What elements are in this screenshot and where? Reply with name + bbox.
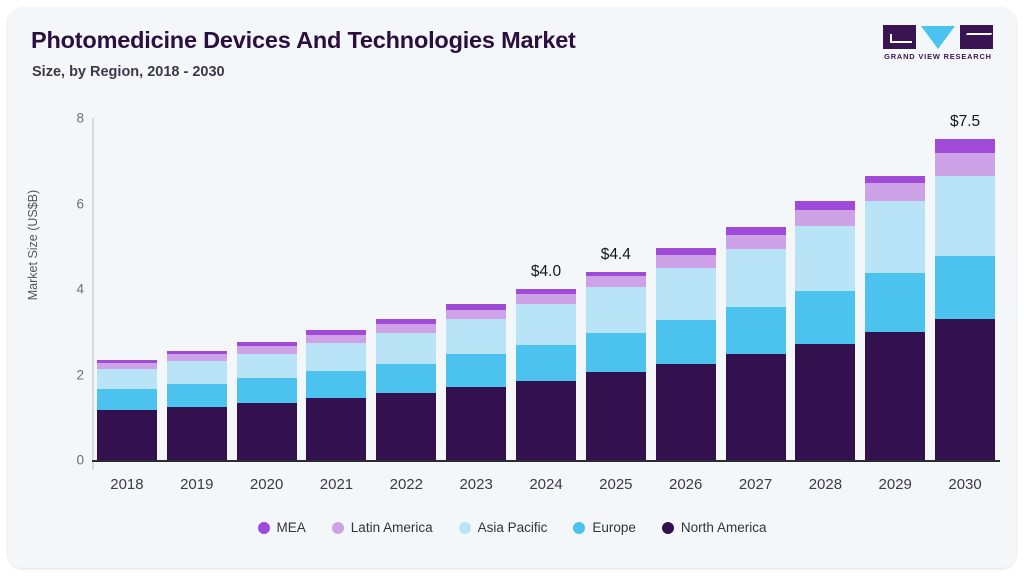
- bar-segment[interactable]: [167, 384, 227, 407]
- x-axis-tick-label: 2020: [250, 476, 283, 493]
- x-axis-tick-label: 2024: [529, 476, 562, 493]
- legend-label: Europe: [592, 520, 636, 535]
- bar-segment[interactable]: [586, 333, 646, 373]
- bar-value-label: $4.4: [601, 246, 631, 264]
- bar-segment[interactable]: [586, 276, 646, 287]
- x-axis-tick-label: 2021: [320, 476, 353, 493]
- bar-segment[interactable]: [726, 227, 786, 235]
- bar-segment[interactable]: [726, 307, 786, 354]
- bar-stack-2028[interactable]: [795, 201, 855, 460]
- bar-segment[interactable]: [586, 287, 646, 332]
- bar-segment[interactable]: [656, 255, 716, 268]
- x-axis-tick-label: 2022: [390, 476, 423, 493]
- x-axis-tick-label: 2026: [669, 476, 702, 493]
- x-axis-line: [92, 460, 1000, 462]
- bar-segment[interactable]: [795, 210, 855, 226]
- bar-segment[interactable]: [935, 256, 995, 319]
- x-axis-tick-label: 2027: [739, 476, 772, 493]
- bar-segment[interactable]: [376, 333, 436, 364]
- legend-label: Latin America: [351, 520, 433, 535]
- bar-segment[interactable]: [97, 389, 157, 410]
- bar-segment[interactable]: [446, 387, 506, 460]
- legend-label: MEA: [277, 520, 306, 535]
- bar-segment[interactable]: [446, 354, 506, 387]
- legend-item-north-america[interactable]: North America: [662, 520, 767, 535]
- plot-area: Market Size (US$B) 02468 $4.0$4.4$7.5 20…: [8, 8, 1016, 568]
- bar-stack-2020[interactable]: [237, 342, 297, 460]
- legend-color-swatch-icon: [459, 522, 471, 534]
- bar-segment[interactable]: [726, 249, 786, 307]
- bar-segment[interactable]: [656, 320, 716, 364]
- bar-value-label: $7.5: [950, 113, 980, 131]
- bar-segment[interactable]: [935, 176, 995, 256]
- bar-segment[interactable]: [167, 361, 227, 384]
- bar-segment[interactable]: [795, 201, 855, 209]
- legend-color-swatch-icon: [573, 522, 585, 534]
- bar-segment[interactable]: [516, 381, 576, 461]
- bar-stack-2026[interactable]: [656, 248, 716, 460]
- y-axis-tick-label: 6: [48, 196, 84, 211]
- bar-segment[interactable]: [865, 201, 925, 273]
- bar-segment[interactable]: [97, 369, 157, 390]
- legend-item-mea[interactable]: MEA: [258, 520, 306, 535]
- bar-stack-2018[interactable]: [97, 360, 157, 460]
- bar-segment[interactable]: [167, 354, 227, 361]
- x-axis-tick-label: 2029: [879, 476, 912, 493]
- bar-stack-2021[interactable]: [306, 330, 366, 460]
- bar-segment[interactable]: [376, 324, 436, 333]
- bar-segment[interactable]: [516, 294, 576, 305]
- legend-label: North America: [681, 520, 767, 535]
- bar-series-container: $4.0$4.4$7.5: [92, 118, 1000, 460]
- chart-card: Photomedicine Devices And Technologies M…: [8, 8, 1016, 568]
- y-axis-tick-label: 2: [48, 367, 84, 382]
- bar-segment[interactable]: [446, 319, 506, 354]
- bar-segment[interactable]: [376, 393, 436, 460]
- legend-color-swatch-icon: [332, 522, 344, 534]
- bar-segment[interactable]: [795, 226, 855, 291]
- legend-color-swatch-icon: [662, 522, 674, 534]
- bar-segment[interactable]: [446, 310, 506, 319]
- bar-segment[interactable]: [656, 364, 716, 460]
- x-axis-tick-label: 2023: [459, 476, 492, 493]
- bar-segment[interactable]: [167, 407, 227, 460]
- bar-stack-2022[interactable]: [376, 319, 436, 460]
- x-axis-tick-label: 2030: [948, 476, 981, 493]
- y-axis-tick-label: 0: [48, 453, 84, 468]
- bar-segment[interactable]: [795, 344, 855, 460]
- bar-stack-2023[interactable]: [446, 304, 506, 460]
- bar-segment[interactable]: [376, 364, 436, 393]
- bar-segment[interactable]: [935, 139, 995, 153]
- bar-segment[interactable]: [865, 176, 925, 184]
- x-axis-tick-label: 2019: [180, 476, 213, 493]
- bar-stack-2025[interactable]: [586, 272, 646, 460]
- bar-segment[interactable]: [306, 335, 366, 343]
- bar-segment[interactable]: [237, 403, 297, 460]
- bar-segment[interactable]: [726, 354, 786, 460]
- y-axis-tick-label: 8: [48, 111, 84, 126]
- screenshot-root: Photomedicine Devices And Technologies M…: [0, 0, 1024, 576]
- x-axis-tick-label: 2028: [809, 476, 842, 493]
- bar-stack-2027[interactable]: [726, 227, 786, 460]
- chart-legend: MEALatin AmericaAsia PacificEuropeNorth …: [8, 520, 1016, 535]
- bar-segment[interactable]: [306, 371, 366, 399]
- bar-segment[interactable]: [237, 354, 297, 379]
- bar-segment[interactable]: [516, 304, 576, 344]
- bar-segment[interactable]: [306, 398, 366, 460]
- bar-segment[interactable]: [656, 268, 716, 321]
- y-axis-tick-label: 4: [48, 282, 84, 297]
- x-axis-tick-label: 2018: [110, 476, 143, 493]
- y-axis-title: Market Size (US$B): [26, 145, 40, 345]
- bar-stack-2019[interactable]: [167, 351, 227, 460]
- legend-item-europe[interactable]: Europe: [573, 520, 636, 535]
- bar-segment[interactable]: [97, 410, 157, 460]
- bar-stack-2029[interactable]: [865, 176, 925, 460]
- bar-segment[interactable]: [865, 332, 925, 460]
- bar-stack-2024[interactable]: [516, 289, 576, 460]
- bar-stack-2030[interactable]: [935, 139, 995, 460]
- bar-segment[interactable]: [726, 235, 786, 250]
- bar-segment[interactable]: [516, 345, 576, 381]
- x-axis-tick-label: 2025: [599, 476, 632, 493]
- bar-segment[interactable]: [306, 343, 366, 371]
- legend-label: Asia Pacific: [478, 520, 548, 535]
- bar-segment[interactable]: [865, 183, 925, 201]
- bar-segment[interactable]: [586, 372, 646, 460]
- bar-value-label: $4.0: [531, 263, 561, 281]
- bar-segment[interactable]: [935, 153, 995, 176]
- bar-segment[interactable]: [935, 319, 995, 460]
- bar-segment[interactable]: [865, 273, 925, 332]
- bar-segment[interactable]: [237, 346, 297, 353]
- bar-segment[interactable]: [795, 291, 855, 344]
- legend-item-asia-pacific[interactable]: Asia Pacific: [459, 520, 548, 535]
- legend-color-swatch-icon: [258, 522, 270, 534]
- bar-segment[interactable]: [237, 378, 297, 403]
- legend-item-latin-america[interactable]: Latin America: [332, 520, 433, 535]
